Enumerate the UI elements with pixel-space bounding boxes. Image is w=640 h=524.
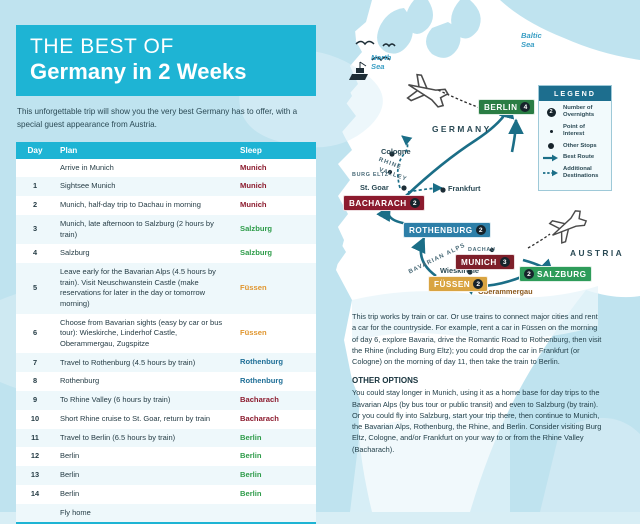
- cell-day: 1: [16, 177, 54, 196]
- cell-sleep: Salzburg: [234, 215, 316, 244]
- title-line-2: Germany in 2 Weeks: [30, 59, 302, 84]
- cell-day: [16, 159, 54, 178]
- infographic-canvas: THE BEST OF Germany in 2 Weeks This unfo…: [0, 0, 640, 512]
- map-badge-munich[interactable]: MUNICH 3: [455, 254, 515, 270]
- large-dot-icon: [543, 143, 559, 149]
- cell-plan: Berlin: [54, 485, 234, 504]
- cell-day: 7: [16, 353, 54, 372]
- itinerary-table-wrapper: Day Plan Sleep Arrive in MunichMunich1Si…: [16, 142, 316, 524]
- legend-item-additional-destinations: Additional Destinations: [543, 166, 607, 181]
- label-dachau: DACHAU: [468, 247, 496, 253]
- table-row: 4SalzburgSalzburg: [16, 244, 316, 263]
- legend-item-overnights: 2 Number of Overnights: [543, 105, 607, 120]
- table-row: Arrive in MunichMunich: [16, 159, 316, 178]
- other-options-heading: OTHER OPTIONS: [352, 376, 602, 385]
- map-badge-berlin-label: BERLIN: [484, 103, 517, 112]
- small-dot-icon: [543, 130, 559, 133]
- cell-plan: Fly home: [54, 504, 234, 523]
- cell-day: [16, 504, 54, 523]
- table-head: Day Plan Sleep: [16, 142, 316, 159]
- left-panel: THE BEST OF Germany in 2 Weeks This unfo…: [16, 25, 316, 524]
- cell-day: 4: [16, 244, 54, 263]
- cell-sleep: Berlin: [234, 447, 316, 466]
- cell-plan: Salzburg: [54, 244, 234, 263]
- cell-sleep: Berlin: [234, 429, 316, 448]
- table-header-row: Day Plan Sleep: [16, 142, 316, 159]
- map-badge-salzburg-nights: 2: [524, 269, 534, 279]
- cell-day: 2: [16, 196, 54, 215]
- legend-sample-number: 2: [547, 108, 556, 117]
- map-badge-bacharach-label: BACHARACH: [349, 199, 407, 208]
- cell-sleep: Munich: [234, 177, 316, 196]
- cell-day: 10: [16, 410, 54, 429]
- cell-plan: Rothenburg: [54, 372, 234, 391]
- table-row: 3Munich, late afternoon to Salzburg (2 h…: [16, 215, 316, 244]
- cell-day: 14: [16, 485, 54, 504]
- map-badge-munich-label: MUNICH: [461, 258, 497, 267]
- table-row: 14BerlinBerlin: [16, 485, 316, 504]
- intro-paragraph: This unforgettable trip will show you th…: [17, 105, 314, 131]
- cell-day: 8: [16, 372, 54, 391]
- legend-label-point-of-interest: Point of Interest: [563, 124, 607, 139]
- dashed-arrow-icon: [543, 169, 559, 177]
- cell-plan: Berlin: [54, 466, 234, 485]
- table-row: 12BerlinBerlin: [16, 447, 316, 466]
- table-body: Arrive in MunichMunich1Sightsee MunichMu…: [16, 159, 316, 523]
- cell-plan: Arrive in Munich: [54, 159, 234, 178]
- solid-arrow-icon: [543, 154, 559, 162]
- table-row: 10Short Rhine cruise to St. Goar, return…: [16, 410, 316, 429]
- itinerary-table: Day Plan Sleep Arrive in MunichMunich1Si…: [16, 142, 316, 523]
- map-badge-salzburg-label: SALZBURG: [537, 270, 586, 279]
- map-badge-rothenburg-label: ROTHENBURG: [409, 226, 473, 235]
- label-frankfurt: Frankfurt: [448, 184, 480, 193]
- cell-sleep: Rothenburg: [234, 353, 316, 372]
- map-badge-bacharach-nights: 2: [410, 198, 420, 208]
- map-badge-rothenburg-nights: 2: [476, 225, 486, 235]
- cell-plan: Munich, half-day trip to Dachau in morni…: [54, 196, 234, 215]
- legend-item-best-route: Best Route: [543, 154, 607, 162]
- cell-plan: To Rhine Valley (6 hours by train): [54, 391, 234, 410]
- cell-plan: Travel to Berlin (6.5 hours by train): [54, 429, 234, 448]
- legend-body: 2 Number of Overnights Point of Interest…: [539, 101, 611, 190]
- cell-sleep: Bacharach: [234, 410, 316, 429]
- title-banner: THE BEST OF Germany in 2 Weeks: [16, 25, 316, 96]
- table-row: 6Choose from Bavarian sights (easy by ca…: [16, 314, 316, 354]
- cell-sleep: Füssen: [234, 263, 316, 314]
- map-badge-rothenburg[interactable]: ROTHENBURG 2: [403, 222, 491, 238]
- legend-label-other-stops: Other Stops: [563, 143, 597, 150]
- cell-day: 5: [16, 263, 54, 314]
- cell-day: 9: [16, 391, 54, 410]
- cell-plan: Leave early for the Bavarian Alps (4.5 h…: [54, 263, 234, 314]
- legend-label-additional-destinations: Additional Destinations: [563, 166, 607, 181]
- map-legend: LEGEND 2 Number of Overnights Point of I…: [538, 85, 612, 191]
- cell-plan: Berlin: [54, 447, 234, 466]
- legend-item-point-of-interest: Point of Interest: [543, 124, 607, 139]
- cell-day: 11: [16, 429, 54, 448]
- bottom-text-block: This trip works by train or car. Or use …: [352, 311, 602, 455]
- column-header-day: Day: [16, 142, 54, 159]
- map-badge-fussen-nights: 2: [473, 279, 483, 289]
- cell-plan: Munich, late afternoon to Salzburg (2 ho…: [54, 215, 234, 244]
- table-row: 13BerlinBerlin: [16, 466, 316, 485]
- column-header-sleep: Sleep: [234, 142, 316, 159]
- title-line-1: THE BEST OF: [30, 36, 302, 58]
- cell-day: 6: [16, 314, 54, 354]
- map-badge-munich-nights: 3: [500, 257, 510, 267]
- legend-item-other-stops: Other Stops: [543, 143, 607, 150]
- map-badge-berlin[interactable]: BERLIN 4: [478, 99, 535, 115]
- map-badge-bacharach[interactable]: BACHARACH 2: [343, 195, 425, 211]
- cell-plan: Short Rhine cruise to St. Goar, return b…: [54, 410, 234, 429]
- cell-day: 3: [16, 215, 54, 244]
- paragraph-other-options: You could stay longer in Munich, using i…: [352, 387, 602, 455]
- label-st-goar: St. Goar: [360, 183, 389, 192]
- cell-plan: Travel to Rothenburg (4.5 hours by train…: [54, 353, 234, 372]
- numbered-circle-icon: 2: [543, 108, 559, 117]
- label-country-austria: AUSTRIA: [570, 248, 624, 258]
- cell-sleep: Munich: [234, 196, 316, 215]
- label-baltic-sea: BalticSea: [521, 31, 542, 49]
- table-row: 5Leave early for the Bavarian Alps (4.5 …: [16, 263, 316, 314]
- cell-sleep: [234, 504, 316, 523]
- legend-label-best-route: Best Route: [563, 154, 594, 161]
- cell-day: 13: [16, 466, 54, 485]
- table-row: 7Travel to Rothenburg (4.5 hours by trai…: [16, 353, 316, 372]
- table-row: 1Sightsee MunichMunich: [16, 177, 316, 196]
- paragraph-trip-logistics: This trip works by train or car. Or use …: [352, 311, 602, 367]
- cell-sleep: Rothenburg: [234, 372, 316, 391]
- column-header-plan: Plan: [54, 142, 234, 159]
- table-row: 2Munich, half-day trip to Dachau in morn…: [16, 196, 316, 215]
- map-badge-berlin-nights: 4: [520, 102, 530, 112]
- cell-sleep: Bacharach: [234, 391, 316, 410]
- legend-label-overnights: Number of Overnights: [563, 105, 607, 120]
- map-badge-salzburg[interactable]: SALZBURG 2: [519, 266, 592, 282]
- cell-day: 12: [16, 447, 54, 466]
- table-row: 11Travel to Berlin (6.5 hours by train)B…: [16, 429, 316, 448]
- label-cologne: Cologne: [381, 147, 411, 156]
- legend-title: LEGEND: [539, 86, 611, 101]
- table-row: 9To Rhine Valley (6 hours by train)Bacha…: [16, 391, 316, 410]
- cell-sleep: Berlin: [234, 485, 316, 504]
- label-north-sea: NorthSea: [371, 53, 391, 71]
- cell-plan: Choose from Bavarian sights (easy by car…: [54, 314, 234, 354]
- table-row: 8RothenburgRothenburg: [16, 372, 316, 391]
- cell-sleep: Munich: [234, 159, 316, 178]
- map-badge-fussen-label: FÜSSEN: [434, 280, 470, 289]
- label-country-germany: GERMANY: [432, 124, 492, 134]
- cell-sleep: Berlin: [234, 466, 316, 485]
- table-row: Fly home: [16, 504, 316, 523]
- cell-plan: Sightsee Munich: [54, 177, 234, 196]
- cell-sleep: Salzburg: [234, 244, 316, 263]
- cell-sleep: Füssen: [234, 314, 316, 354]
- map-badge-fussen[interactable]: FÜSSEN 2: [428, 276, 488, 292]
